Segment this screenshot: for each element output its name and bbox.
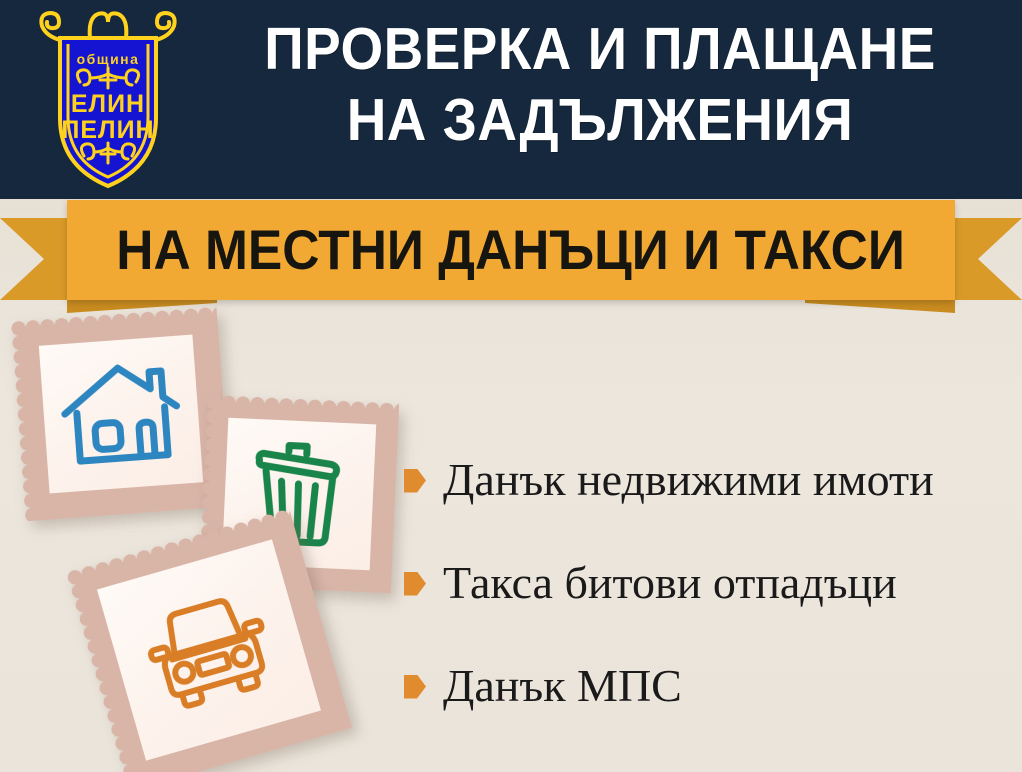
crest-municipality-word: община [77, 51, 140, 67]
crest-name-line2: ПЕЛИН [61, 116, 154, 144]
municipality-crest: община ЕЛИН ПЕЛИН [28, 6, 188, 192]
list-item: Данък МПС [404, 634, 1014, 737]
poster-header: община ЕЛИН ПЕЛИН [0, 0, 1022, 199]
stamp-paper [39, 335, 203, 494]
ribbon-label: НА МЕСТНИ ДАНЪЦИ И ТАКСИ [117, 221, 906, 279]
list-item: Такса битови отпадъци [404, 531, 1014, 634]
list-item-label: Данък МПС [443, 661, 682, 711]
car-front-icon [137, 584, 280, 715]
page-title-line2: НА ЗАДЪЛЖЕНИЯ [219, 85, 982, 156]
poster-root: община ЕЛИН ПЕЛИН [0, 0, 1022, 772]
page-title-line1: ПРОВЕРКА И ПЛАЩАНЕ [264, 16, 936, 82]
list-item-label: Такса битови отпадъци [443, 558, 897, 608]
stamp-frame [11, 307, 231, 522]
crest-name-line1: ЕЛИН [71, 90, 145, 118]
list-item-label: Данък недвижими имоти [443, 455, 934, 505]
ribbon-banner: НА МЕСТНИ ДАНЪЦИ И ТАКСИ [67, 200, 955, 300]
stamp-card-property [11, 307, 231, 522]
tax-type-list: Данък недвижими имоти Такса битови отпад… [404, 428, 1014, 737]
arrow-bullet-icon [404, 675, 426, 699]
list-item: Данък недвижими имоти [404, 428, 1014, 531]
coat-of-arms-shield-icon: община ЕЛИН ПЕЛИН [28, 6, 188, 192]
arrow-bullet-icon [404, 469, 426, 493]
arrow-bullet-icon [404, 572, 426, 596]
house-icon [56, 356, 186, 473]
subtitle-ribbon: НА МЕСТНИ ДАНЪЦИ И ТАКСИ [0, 199, 1022, 305]
page-title: ПРОВЕРКА И ПЛАЩАНЕ НА ЗАДЪЛЖЕНИЯ [219, 14, 982, 156]
stamp-paper [97, 539, 321, 760]
